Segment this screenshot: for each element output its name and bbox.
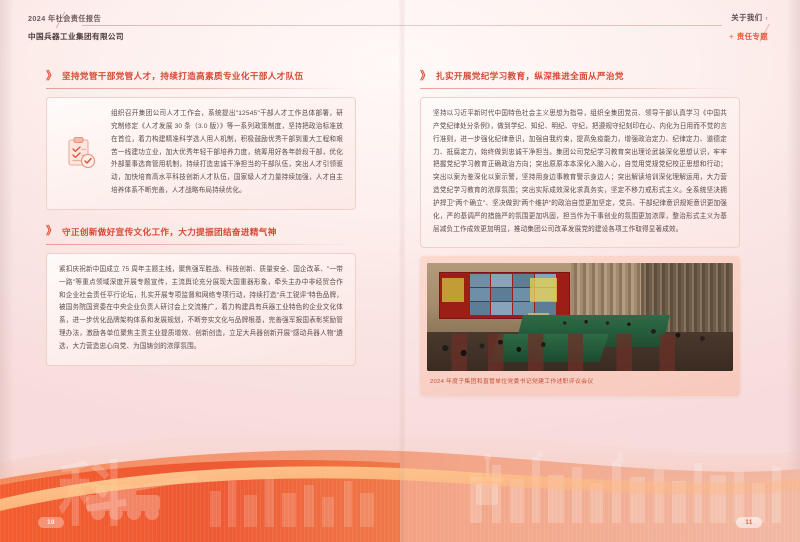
- section-divider: [420, 88, 740, 89]
- section-body-card: 坚持以习近平新时代中国特色社会主义思想为指导，组织全集团党员、领导干部认真学习《…: [420, 97, 740, 248]
- header-rule: [82, 25, 722, 26]
- photo-attendees: [427, 311, 733, 371]
- nav-about-us[interactable]: 关于我们‹: [731, 12, 768, 23]
- section-header: 》 守正创新做好宣传文化工作，大力提振团结奋进精气神: [46, 226, 356, 244]
- page-number-right: 11: [736, 517, 762, 528]
- nav-responsibility-topic[interactable]: +责任专题: [729, 31, 768, 42]
- section-header: 》 扎实开展党纪学习教育，纵深推进全面从严治党: [420, 70, 740, 88]
- section-title: 扎实开展党纪学习教育，纵深推进全面从严治党: [436, 70, 624, 82]
- meeting-photo-card: 2024 年度子集团和直管单位党委书记党建工作述职评议会议: [420, 256, 740, 396]
- section-party-discipline-education: 》 扎实开展党纪学习教育，纵深推进全面从严治党 坚持以习近平新时代中国特色社会主…: [420, 70, 740, 248]
- section-body-text: 紧扣庆祝新中国成立 75 周年主题主线，聚焦强军胜战、科技创新、质量安全、国企改…: [59, 264, 343, 354]
- section-divider: [46, 88, 356, 89]
- report-year-title: 2024 年社会责任报告: [28, 14, 101, 24]
- section-body-card: 组织召开集团公司人才工作会，系统提出"12545"干部人才工作总体部署，研究制修…: [46, 97, 356, 210]
- right-column: 》 扎实开展党纪学习教育，纵深推进全面从严治党 坚持以习近平新时代中国特色社会主…: [420, 70, 740, 264]
- bottom-artwork: 科 10 11: [0, 407, 800, 542]
- section-title: 坚持党管干部党管人才，持续打造高素质专业化干部人才队伍: [62, 70, 303, 82]
- section-header: 》 坚持党管干部党管人才，持续打造高素质专业化干部人才队伍: [46, 70, 356, 88]
- nav-responsibility-topic-label: 责任专题: [737, 32, 768, 41]
- section-body-text: 组织召开集团公司人才工作会，系统提出"12545"干部人才工作总体部署，研究制修…: [111, 108, 343, 198]
- section-culture-propaganda: 》 守正创新做好宣传文化工作，大力提振团结奋进精气神 紧扣庆祝新中国成立 75 …: [46, 226, 356, 366]
- left-column: 》 坚持党管干部党管人才，持续打造高素质专业化干部人才队伍: [46, 70, 356, 382]
- photo-banner-right: [530, 278, 558, 302]
- report-spread-page: 2024 年社会责任报告 中国兵器工业集团有限公司 关于我们‹ +责任专题 》 …: [0, 0, 800, 542]
- chevron-left-icon: ‹: [765, 15, 768, 22]
- company-name: 中国兵器工业集团有限公司: [28, 31, 124, 42]
- photo-caption: 2024 年度子集团和直管单位党委书记党建工作述职评议会议: [427, 371, 733, 385]
- double-chevron-right-icon: 》: [46, 226, 55, 237]
- section-body-card: 紧扣庆祝新中国成立 75 周年主题主线，聚焦强军胜战、科技创新、质量安全、国企改…: [46, 253, 356, 366]
- section-title: 守正创新做好宣传文化工作，大力提振团结奋进精气神: [62, 226, 277, 238]
- meeting-photo: [427, 263, 733, 371]
- nav-about-us-label: 关于我们: [731, 13, 762, 22]
- photo-banner-left: [442, 278, 463, 302]
- double-chevron-right-icon: 》: [46, 71, 55, 82]
- plus-icon: +: [729, 32, 734, 41]
- double-chevron-right-icon: 》: [420, 71, 429, 82]
- page-number-left: 10: [38, 517, 64, 528]
- section-talent-management: 》 坚持党管干部党管人才，持续打造高素质专业化干部人才队伍: [46, 70, 356, 210]
- section-body-text: 坚持以习近平新时代中国特色社会主义思想为指导，组织全集团党员、领导干部认真学习《…: [433, 108, 727, 236]
- section-divider: [46, 244, 356, 245]
- document-checklist-icon: [63, 136, 97, 170]
